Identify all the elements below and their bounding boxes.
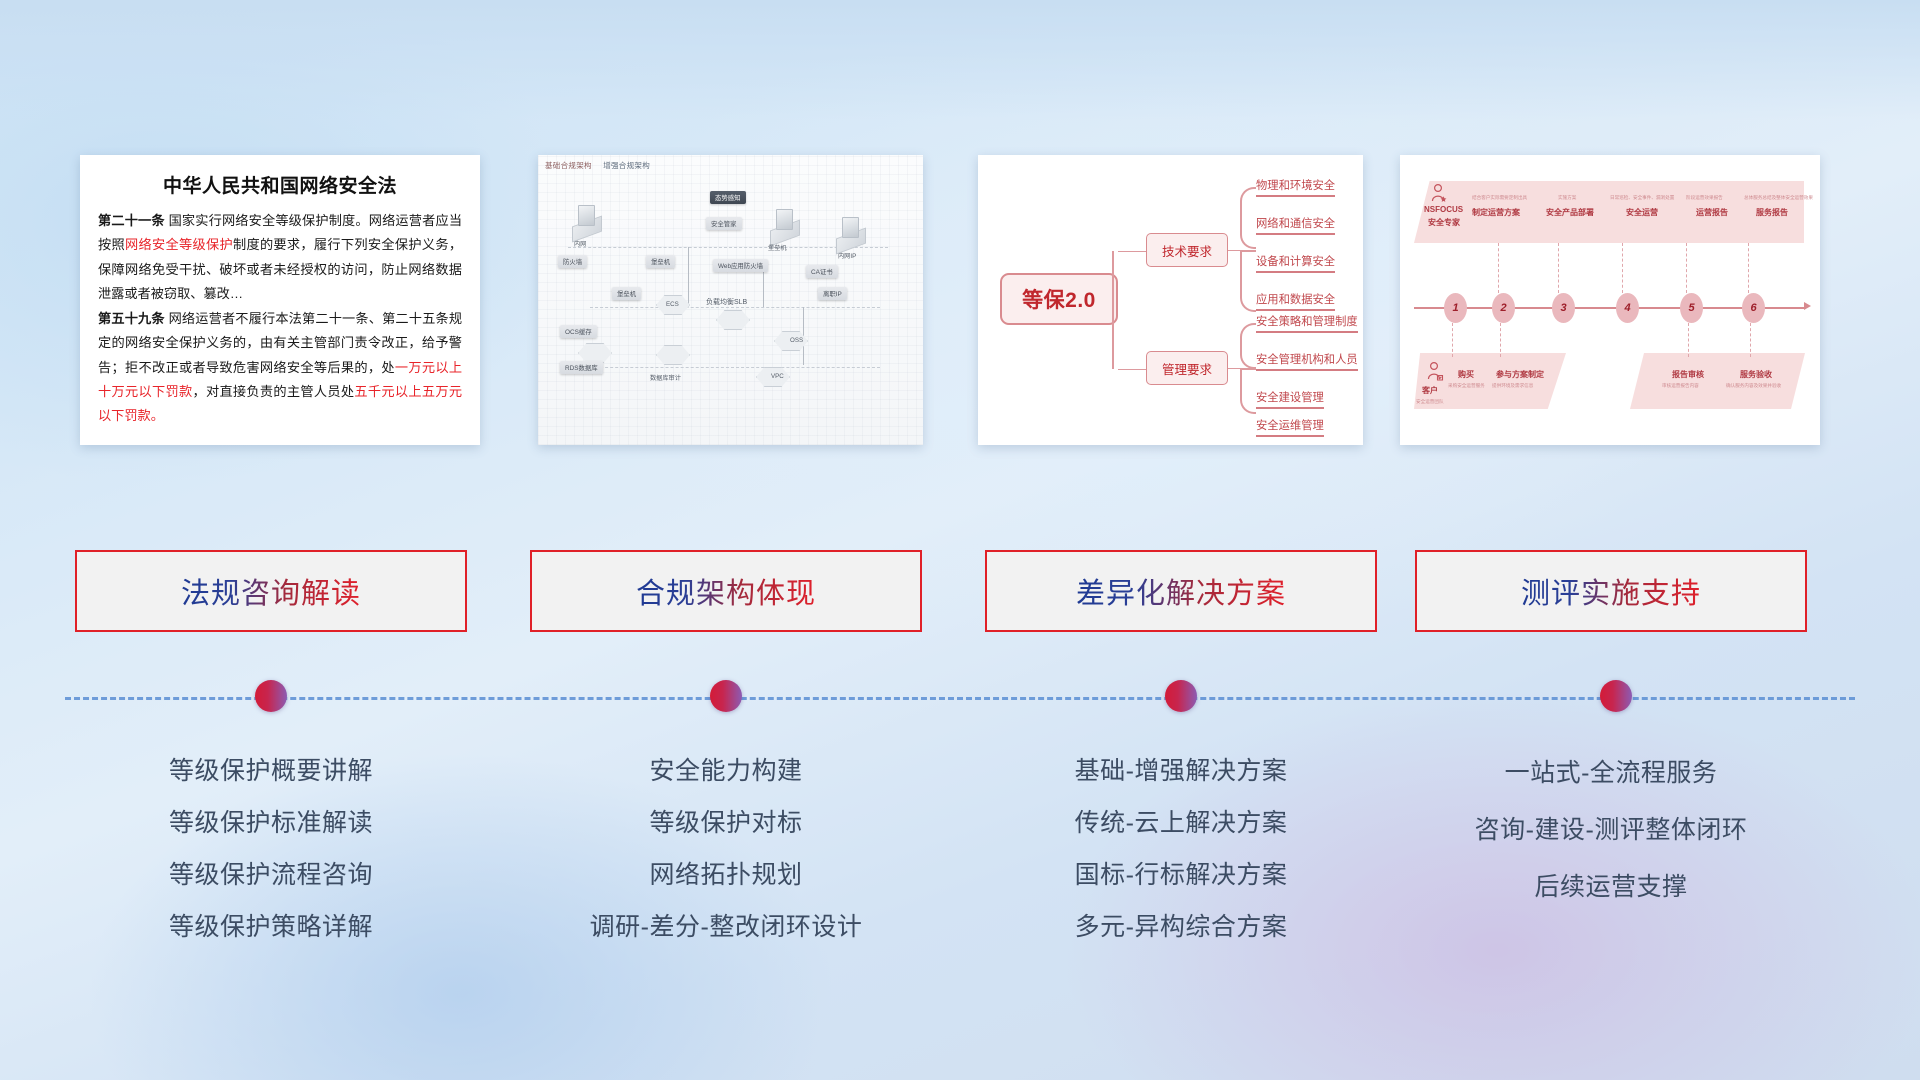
diagram-node: CA证书 bbox=[806, 265, 838, 278]
diagram-connector bbox=[590, 367, 880, 368]
diagram-connector bbox=[688, 247, 689, 307]
timeline-step-1: 1 bbox=[1444, 293, 1467, 323]
timeline-marker-1[interactable] bbox=[255, 680, 287, 712]
mindmap-branch-management: 管理要求 bbox=[1146, 351, 1228, 385]
list-item: 等级保护流程咨询 bbox=[75, 849, 467, 901]
feature-column-3: 基础-增强解决方案 传统-云上解决方案 国标-行标解决方案 多元-异构综合方案 bbox=[985, 745, 1377, 953]
diagram-node-label: 负载均衡SLB bbox=[706, 297, 747, 307]
list-item: 等级保护策略详解 bbox=[75, 901, 467, 953]
step-5-bottom-label: 报告审核 bbox=[1672, 369, 1704, 380]
diagram-node-label: 内网 bbox=[574, 239, 586, 248]
mindmap-connector bbox=[1240, 187, 1256, 249]
step-2-bottom-label: 参与方案制定 bbox=[1496, 369, 1544, 380]
section-title-1: 法规咨询解读 bbox=[181, 570, 361, 612]
mindmap-leaf: 安全运维管理 bbox=[1256, 417, 1324, 437]
tab-enhanced-architecture: 增强合规架构 bbox=[603, 161, 650, 170]
diagram-node: 堡垒机 bbox=[612, 287, 641, 300]
section-title-box-3[interactable]: 差异化解决方案 bbox=[985, 550, 1377, 632]
section-title-3: 差异化解决方案 bbox=[1076, 570, 1286, 612]
step-connector bbox=[1688, 323, 1689, 357]
list-item: 调研-差分-整改闭环设计 bbox=[530, 901, 922, 953]
step-3-top-sub: 实施方案 bbox=[1558, 195, 1576, 201]
diagram-node: OCS缓存 bbox=[560, 325, 597, 338]
section-title-box-2[interactable]: 合规架构体现 bbox=[530, 550, 922, 632]
mindmap-connector bbox=[1118, 369, 1146, 370]
diagram-node-label: VPC bbox=[771, 373, 784, 380]
step-connector bbox=[1750, 323, 1751, 357]
step-6-top-label: 服务报告 bbox=[1756, 207, 1788, 218]
step-1-bottom-label: 购买 bbox=[1458, 369, 1474, 380]
diagram-hex-node bbox=[578, 343, 612, 363]
customer-sublabel: 安全运营团队 bbox=[1416, 399, 1444, 405]
step-connector bbox=[1498, 243, 1499, 293]
diagram-node: 堡垒机 bbox=[646, 255, 675, 268]
step-5-top-sub: 阶段运营效果报告 bbox=[1686, 195, 1723, 201]
law-title: 中华人民共和国网络安全法 bbox=[98, 171, 462, 198]
step-connector bbox=[1452, 323, 1453, 357]
diagram-node-highlight: 态势感知 bbox=[710, 191, 746, 204]
feature-column-4: 一站式-全流程服务 咨询-建设-测评整体闭环 后续运营支撑 bbox=[1415, 745, 1807, 916]
timeline-step-3: 3 bbox=[1552, 293, 1575, 323]
article-59-text-2: ，对直接负责的主管人员处 bbox=[192, 384, 354, 399]
diagram-node-label: 堡垒机 bbox=[768, 243, 787, 252]
step-6-top-sub: 总体服务总结及整体安全运营效果 bbox=[1744, 195, 1813, 201]
diagram-node: RDS数据库 bbox=[560, 361, 603, 374]
article-21-label: 第二十一条 bbox=[98, 213, 165, 228]
step-4-top-sub: 日常巡检、安全事件、漏洞处置 bbox=[1610, 195, 1674, 201]
timeline-step-2: 2 bbox=[1492, 293, 1515, 323]
list-item: 网络拓扑规划 bbox=[530, 849, 922, 901]
list-item: 等级保护对标 bbox=[530, 797, 922, 849]
tab-basic-architecture: 基础合规架构 bbox=[545, 161, 592, 170]
diagram-server-icon bbox=[776, 209, 793, 230]
step-4-top-label: 安全运营 bbox=[1626, 207, 1658, 218]
step-2-top-label: 制定运营方案 bbox=[1472, 207, 1520, 218]
mindmap-leaf: 安全策略和管理制度 bbox=[1256, 313, 1358, 333]
section-title-box-4[interactable]: 测评实施支持 bbox=[1415, 550, 1807, 632]
section-title-box-1[interactable]: 法规咨询解读 bbox=[75, 550, 467, 632]
list-item: 后续运营支撑 bbox=[1415, 859, 1807, 916]
step-2-bottom-sub: 提供环境及需求信息 bbox=[1492, 383, 1533, 389]
mindmap-connector bbox=[1240, 368, 1256, 414]
diagram-hex-node bbox=[716, 310, 750, 330]
article-59-label: 第五十九条 bbox=[98, 311, 165, 326]
diagram-connector bbox=[590, 307, 880, 308]
mindmap-root: 等保2.0 bbox=[1000, 273, 1118, 325]
section-title-4: 测评实施支持 bbox=[1521, 570, 1701, 612]
step-connector bbox=[1500, 323, 1501, 357]
step-6-bottom-sub: 确认服务内容及效果并验收 bbox=[1726, 383, 1781, 389]
list-item: 安全能力构建 bbox=[530, 745, 922, 797]
timeline-marker-4[interactable] bbox=[1600, 680, 1632, 712]
law-article-59: 第五十九条 网络运营者不履行本法第二十一条、第二十五条规定的网络安全保护义务的，… bbox=[98, 307, 462, 429]
list-item: 国标-行标解决方案 bbox=[985, 849, 1377, 901]
step-3-top-label: 安全产品部署 bbox=[1546, 207, 1594, 218]
customer-band-right bbox=[1630, 353, 1805, 409]
list-item: 传统-云上解决方案 bbox=[985, 797, 1377, 849]
section-title-2: 合规架构体现 bbox=[636, 570, 816, 612]
step-5-bottom-sub: 审核运营报告内容 bbox=[1662, 383, 1699, 389]
article-21-highlight: 网络安全等级保护 bbox=[125, 237, 233, 252]
step-connector bbox=[1686, 243, 1687, 293]
list-item: 基础-增强解决方案 bbox=[985, 745, 1377, 797]
card-service-timeline: NSFOCUS 安全专家 客户 安全运营团队 结合客户实际需要定制出具 制定运营… bbox=[1400, 155, 1820, 445]
customer-person-icon bbox=[1426, 361, 1444, 381]
service-timeline: NSFOCUS 安全专家 客户 安全运营团队 结合客户实际需要定制出具 制定运营… bbox=[1400, 155, 1820, 445]
timeline-step-6: 6 bbox=[1742, 293, 1765, 323]
expert-person-icon bbox=[1430, 183, 1448, 203]
step-connector bbox=[1622, 243, 1623, 293]
mindmap-connector bbox=[1240, 323, 1256, 369]
diagram-node: Web应用防火墙 bbox=[713, 259, 768, 272]
mindmap-leaf: 设备和计算安全 bbox=[1256, 253, 1335, 273]
architecture-diagram: 基础合规架构 增强合规架构 内网 防火墙 堡垒机 态势感知 安全管家 bbox=[538, 155, 923, 445]
diagram-node-label: 数据库审计 bbox=[650, 373, 681, 382]
list-item: 等级保护概要讲解 bbox=[75, 745, 467, 797]
slide-root: 中华人民共和国网络安全法 第二十一条 国家实行网络安全等级保护制度。网络运营者应… bbox=[0, 0, 1920, 1080]
diagram-server-icon bbox=[842, 217, 859, 238]
section-title-row: 法规咨询解读 合规架构体现 差异化解决方案 测评实施支持 bbox=[0, 550, 1920, 632]
timeline-dashed-line bbox=[65, 697, 1855, 701]
diagram-node-label: 内网IP bbox=[838, 251, 856, 260]
mindmap-connector bbox=[1240, 250, 1256, 312]
customer-label: 客户 bbox=[1422, 385, 1438, 396]
mindmap-branch-technical: 技术要求 bbox=[1146, 233, 1228, 267]
mindmap-leaf: 安全管理机构和人员 bbox=[1256, 351, 1358, 371]
step-connector bbox=[1748, 243, 1749, 293]
mindmap-connector bbox=[1112, 251, 1126, 369]
list-item: 多元-异构综合方案 bbox=[985, 901, 1377, 953]
timeline-marker-2[interactable] bbox=[710, 680, 742, 712]
architecture-tabs: 基础合规架构 增强合规架构 bbox=[545, 160, 659, 171]
step-6-bottom-label: 服务验收 bbox=[1740, 369, 1772, 380]
card-compliance-architecture: 基础合规架构 增强合规架构 内网 防火墙 堡垒机 态势感知 安全管家 bbox=[538, 155, 923, 445]
law-article-21: 第二十一条 国家实行网络安全等级保护制度。网络运营者应当按照网络安全等级保护制度… bbox=[98, 209, 462, 307]
step-connector bbox=[1558, 243, 1559, 293]
timeline-marker-3[interactable] bbox=[1165, 680, 1197, 712]
list-item: 咨询-建设-测评整体闭环 bbox=[1415, 802, 1807, 859]
feature-column-1: 等级保护概要讲解 等级保护标准解读 等级保护流程咨询 等级保护策略详解 bbox=[75, 745, 467, 953]
step-2-top-sub: 结合客户实际需要定制出具 bbox=[1472, 195, 1527, 201]
mindmap: 等保2.0 技术要求 管理要求 物理和环境安全 网络和通信安全 设备和计算安全 … bbox=[978, 155, 1363, 445]
mindmap-leaf: 安全建设管理 bbox=[1256, 389, 1324, 409]
expert-subtitle: 安全专家 bbox=[1428, 217, 1460, 228]
timeline-step-5: 5 bbox=[1680, 293, 1703, 323]
timeline-step-4: 4 bbox=[1616, 293, 1639, 323]
diagram-node-label: ECS bbox=[666, 301, 679, 308]
diagram-node-label: OSS bbox=[790, 337, 803, 344]
list-item: 一站式-全流程服务 bbox=[1415, 745, 1807, 802]
card-mindmap-dengbao: 等保2.0 技术要求 管理要求 物理和环境安全 网络和通信安全 设备和计算安全 … bbox=[978, 155, 1363, 445]
diagram-node: 防火墙 bbox=[558, 255, 587, 268]
step-5-top-label: 运营报告 bbox=[1696, 207, 1728, 218]
expert-title: NSFOCUS bbox=[1424, 205, 1463, 214]
diagram-server-icon bbox=[578, 205, 595, 226]
step-1-bottom-sub: 采购安全运营服务 bbox=[1448, 383, 1485, 389]
mindmap-leaf: 网络和通信安全 bbox=[1256, 215, 1335, 235]
diagram-node: 离职IP bbox=[818, 287, 847, 300]
diagram-hex-node bbox=[656, 345, 690, 365]
card-row: 中华人民共和国网络安全法 第二十一条 国家实行网络安全等级保护制度。网络运营者应… bbox=[0, 155, 1920, 455]
feature-column-2: 安全能力构建 等级保护对标 网络拓扑规划 调研-差分-整改闭环设计 bbox=[530, 745, 922, 953]
card-cybersecurity-law: 中华人民共和国网络安全法 第二十一条 国家实行网络安全等级保护制度。网络运营者应… bbox=[80, 155, 480, 445]
mindmap-leaf: 物理和环境安全 bbox=[1256, 177, 1335, 197]
law-document: 中华人民共和国网络安全法 第二十一条 国家实行网络安全等级保护制度。网络运营者应… bbox=[80, 155, 480, 445]
timeline-arrow-icon bbox=[1804, 302, 1811, 310]
list-item: 等级保护标准解读 bbox=[75, 797, 467, 849]
diagram-node: 安全管家 bbox=[706, 217, 742, 230]
mindmap-leaf: 应用和数据安全 bbox=[1256, 291, 1335, 311]
